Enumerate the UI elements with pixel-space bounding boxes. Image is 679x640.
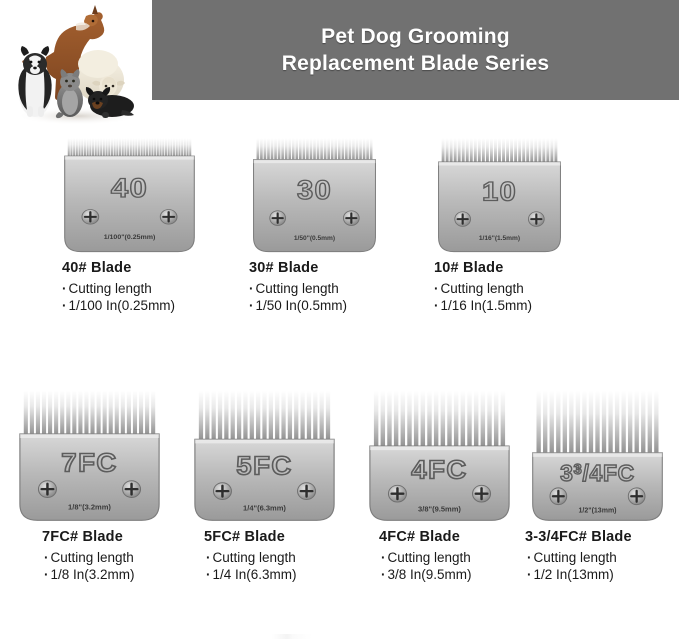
blade-spec-line-2: 1/100 In(0.25mm) — [62, 297, 252, 314]
blade-screw-right — [528, 212, 544, 227]
blade-spec-line-2: 1/8 In(3.2mm) — [44, 566, 187, 583]
blade-engraving: 40 — [111, 174, 148, 204]
blade-graphic: 33/4FC 1/2"(13mm) — [530, 388, 665, 523]
blade-size-engraving: 1/8"(3.2mm) — [68, 503, 111, 512]
blade-teeth — [199, 391, 330, 441]
blade-screw-right — [160, 210, 177, 225]
blade-graphic: 7FC 1/8"(3.2mm) — [17, 388, 162, 523]
blade-spec-line-1: Cutting length — [381, 549, 537, 566]
blade-screw-left — [38, 481, 56, 498]
blade-size-engraving: 3/8"(9.5mm) — [418, 505, 461, 514]
blade-card-7fc: 7FC 1/8"(3.2mm) 7FC# Blade Cutting lengt… — [12, 388, 187, 583]
blade-title: 10# Blade — [434, 260, 624, 276]
blade-screw-left — [550, 488, 567, 505]
svg-text:4FC: 4FC — [411, 455, 467, 484]
animal-photo-illustration — [2, 2, 150, 128]
blade-screw-right — [298, 483, 316, 500]
blade-spec-line-1: Cutting length — [434, 280, 624, 297]
blade-graphic: 10 1/16"(1.5mm) — [436, 136, 563, 254]
blade-title: 30# Blade — [249, 260, 439, 276]
blade-image-4fc: 4FC 3/8"(9.5mm) — [367, 388, 512, 523]
blade-title: 5FC# Blade — [204, 529, 362, 545]
blade-caption-7fc: 7FC# Blade Cutting length 1/8 In(3.2mm) — [12, 529, 187, 583]
blade-screw-left — [388, 485, 406, 502]
blade-card-4fc: 4FC 3/8"(9.5mm) 4FC# Blade Cutting lengt… — [362, 388, 537, 583]
blade-caption-40: 40# Blade Cutting length 1/100 In(0.25mm… — [62, 260, 252, 314]
blade-spec-line-1: Cutting length — [249, 280, 439, 297]
blade-spec-line-1: Cutting length — [527, 549, 679, 566]
blade-engraving: 5FC — [236, 451, 292, 480]
blade-spec-line-1: Cutting length — [206, 549, 362, 566]
blade-screw-left — [270, 211, 286, 226]
blade-teeth — [24, 391, 155, 436]
blade-spec-line-2: 1/2 In(13mm) — [527, 566, 679, 583]
blade-engraving: 33/4FC — [560, 460, 635, 486]
blade-image-5fc: 5FC 1/4"(6.3mm) — [192, 388, 337, 523]
svg-text:10: 10 — [482, 176, 517, 207]
blade-title: 7FC# Blade — [42, 529, 187, 545]
blade-graphic: 40 1/100"(0.25mm) — [62, 136, 197, 254]
page-title-line-2: Replacement Blade Series — [282, 50, 549, 77]
blade-teeth — [442, 138, 558, 163]
blade-card-5fc: 5FC 1/4"(6.3mm) 5FC# Blade Cutting lengt… — [187, 388, 362, 583]
blade-card-30: 30 1/50"(0.5mm) 30# Blade Cutting length… — [249, 136, 439, 314]
scan-artifact — [272, 634, 312, 639]
animal-group-photo — [2, 2, 150, 128]
blade-teeth — [536, 391, 658, 454]
blade-teeth — [374, 391, 505, 448]
blade-image-30: 30 1/50"(0.5mm) — [251, 136, 378, 254]
blade-image-334fc: 33/4FC 1/2"(13mm) — [530, 388, 665, 523]
blade-caption-5fc: 5FC# Blade Cutting length 1/4 In(6.3mm) — [187, 529, 362, 583]
blade-spec-line-1: Cutting length — [44, 549, 187, 566]
blade-spec-line-2: 1/50 In(0.5mm) — [249, 297, 439, 314]
page-header: Pet Dog Grooming Replacement Blade Serie… — [0, 0, 679, 103]
blade-size-engraving: 1/50"(0.5mm) — [294, 235, 335, 242]
blade-card-10: 10 1/16"(1.5mm) 10# Blade Cutting length… — [434, 136, 624, 314]
blade-graphic: 4FC 3/8"(9.5mm) — [367, 388, 512, 523]
blade-card-40: 40 1/100"(0.25mm) 40# Blade Cutting leng… — [62, 136, 252, 314]
blade-size-engraving: 1/16"(1.5mm) — [479, 235, 520, 242]
blade-spec-line-2: 1/4 In(6.3mm) — [206, 566, 362, 583]
title-banner: Pet Dog Grooming Replacement Blade Serie… — [152, 0, 679, 100]
blade-title: 4FC# Blade — [379, 529, 537, 545]
blade-spec-line-1: Cutting length — [62, 280, 252, 297]
blade-caption-30: 30# Blade Cutting length 1/50 In(0.5mm) — [249, 260, 439, 314]
blade-title: 3-3/4FC# Blade — [525, 529, 679, 545]
blade-image-40: 40 1/100"(0.25mm) — [62, 136, 197, 254]
blade-engraving: 4FC — [411, 455, 467, 484]
svg-text:5FC: 5FC — [236, 451, 292, 480]
blade-caption-4fc: 4FC# Blade Cutting length 3/8 In(9.5mm) — [362, 529, 537, 583]
blade-graphic: 30 1/50"(0.5mm) — [251, 136, 378, 254]
blade-teeth — [257, 138, 373, 160]
blade-size-engraving: 1/4"(6.3mm) — [243, 504, 286, 513]
blade-screw-left — [82, 210, 99, 225]
blade-card-334fc: 33/4FC 1/2"(13mm) 3-3/4FC# Blade Cutting… — [525, 388, 679, 583]
blade-row-bottom: 7FC 1/8"(3.2mm) 7FC# Blade Cutting lengt… — [0, 388, 679, 603]
svg-text:40: 40 — [111, 174, 148, 204]
blade-size-engraving: 1/100"(0.25mm) — [104, 235, 156, 242]
blade-title: 40# Blade — [62, 260, 252, 276]
blade-image-7fc: 7FC 1/8"(3.2mm) — [17, 388, 162, 523]
blade-screw-left — [455, 212, 471, 227]
page-title-line-1: Pet Dog Grooming — [321, 23, 510, 50]
blade-screw-right — [628, 488, 645, 505]
blade-graphic: 5FC 1/4"(6.3mm) — [192, 388, 337, 523]
blade-spec-line-2: 3/8 In(9.5mm) — [381, 566, 537, 583]
svg-text:7FC: 7FC — [61, 448, 117, 477]
blade-caption-10: 10# Blade Cutting length 1/16 In(1.5mm) — [434, 260, 624, 314]
blade-image-10: 10 1/16"(1.5mm) — [436, 136, 563, 254]
blade-size-engraving: 1/2"(13mm) — [578, 507, 616, 514]
blade-screw-right — [473, 485, 491, 502]
blade-caption-334fc: 3-3/4FC# Blade Cutting length 1/2 In(13m… — [525, 529, 679, 583]
blade-screw-left — [213, 483, 231, 500]
blade-engraving: 10 — [482, 176, 517, 207]
blade-spec-line-2: 1/16 In(1.5mm) — [434, 297, 624, 314]
blade-engraving: 7FC — [61, 448, 117, 477]
blade-teeth — [68, 138, 192, 157]
svg-text:33/4FC: 33/4FC — [560, 460, 635, 486]
blade-row-top: 40 1/100"(0.25mm) 40# Blade Cutting leng… — [0, 136, 679, 341]
blade-engraving: 30 — [297, 174, 332, 205]
svg-text:30: 30 — [297, 174, 332, 205]
page-title: Pet Dog Grooming Replacement Blade Serie… — [152, 0, 679, 100]
blade-screw-right — [343, 211, 359, 226]
blade-screw-right — [123, 481, 141, 498]
